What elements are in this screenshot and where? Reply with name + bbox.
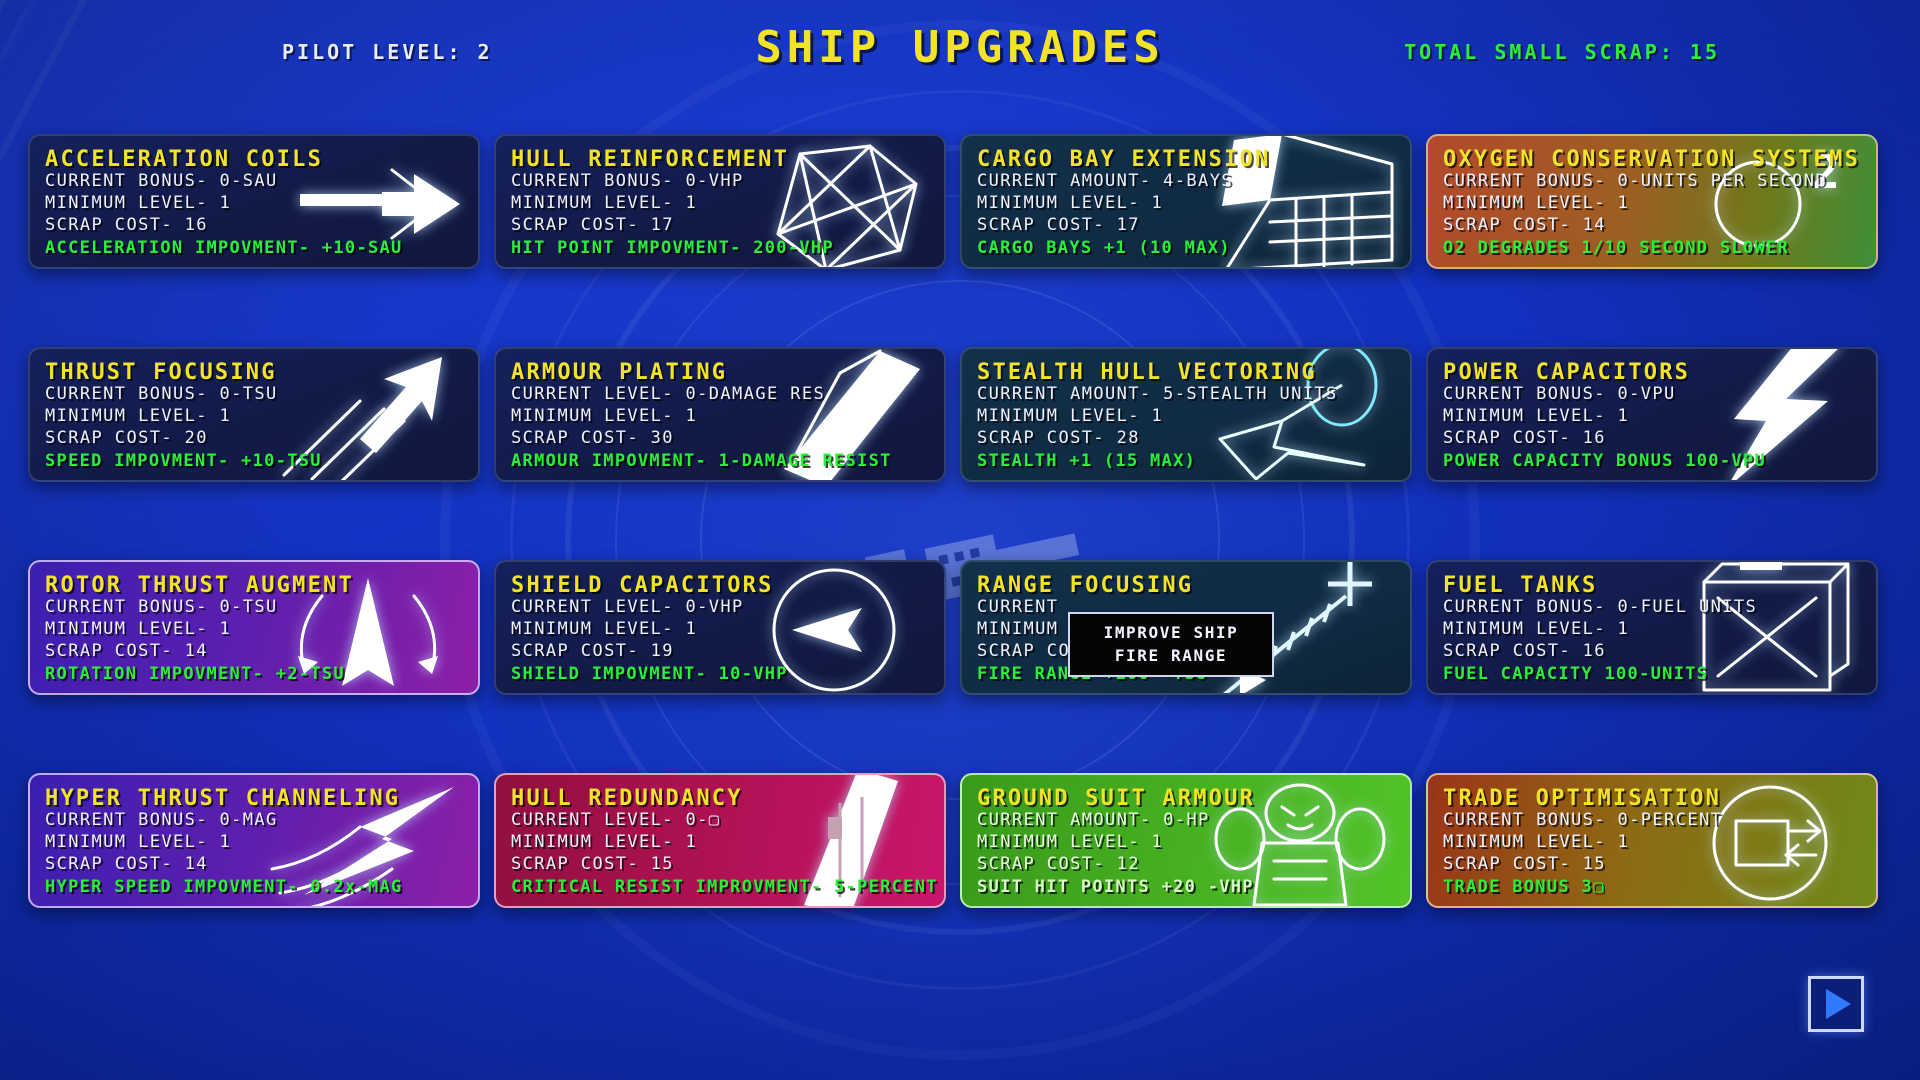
upgrade-scrap-cost: SCRAP COST- 16	[45, 215, 478, 237]
upgrade-scrap-cost: SCRAP COST- 15	[1443, 854, 1876, 876]
upgrade-bonus: STEALTH +1 (15 MAX)	[977, 450, 1410, 472]
upgrade-card-text: ARMOUR PLATINGCURRENT LEVEL- 0-DAMAGE RE…	[511, 362, 944, 472]
upgrade-card[interactable]: FUEL TANKSCURRENT BONUS- 0-FUEL UNITSMIN…	[1426, 560, 1878, 695]
upgrade-scrap-cost: SCRAP COST- 17	[977, 215, 1410, 237]
upgrade-card-text: OXYGEN CONSERVATION SYSTEMSCURRENT BONUS…	[1443, 149, 1876, 259]
upgrade-card-text: FUEL TANKSCURRENT BONUS- 0-FUEL UNITSMIN…	[1443, 575, 1876, 685]
upgrade-minimum-level: MINIMUM LEVEL- 1	[45, 832, 478, 854]
upgrade-minimum-level: MINIMUM LEVEL- 1	[45, 193, 478, 215]
upgrade-current: CURRENT BONUS- 0-UNITS PER SECOND	[1443, 171, 1876, 193]
upgrade-title: HYPER THRUST CHANNELING	[45, 788, 478, 810]
upgrade-scrap-cost: SCRAP COST- 30	[511, 428, 944, 450]
upgrade-card-text: CARGO BAY EXTENSIONCURRENT AMOUNT- 4-BAY…	[977, 149, 1410, 259]
upgrade-current: CURRENT BONUS- 0-VHP	[511, 171, 944, 193]
upgrade-card-text: POWER CAPACITORSCURRENT BONUS- 0-VPUMINI…	[1443, 362, 1876, 472]
upgrade-title: THRUST FOCUSING	[45, 362, 478, 384]
tooltip-line-2: FIRE RANGE	[1076, 644, 1266, 667]
upgrade-minimum-level: MINIMUM LEVEL- 1	[511, 406, 944, 428]
upgrade-card-text: STEALTH HULL VECTORINGCURRENT AMOUNT- 5-…	[977, 362, 1410, 472]
upgrade-minimum-level: MINIMUM LEVEL- 1	[977, 406, 1410, 428]
upgrade-card-text: HULL REINFORCEMENTCURRENT BONUS- 0-VHPMI…	[511, 149, 944, 259]
upgrade-title: GROUND SUIT ARMOUR	[977, 788, 1410, 810]
upgrade-minimum-level: MINIMUM LEVEL- 1	[511, 832, 944, 854]
upgrade-card[interactable]: GROUND SUIT ARMOURCURRENT AMOUNT- 0-HPMI…	[960, 773, 1412, 908]
upgrade-current: CURRENT BONUS- 0-TSU	[45, 384, 478, 406]
next-page-button[interactable]	[1808, 976, 1864, 1032]
upgrade-card[interactable]: TRADE OPTIMISATIONCURRENT BONUS- 0-PERCE…	[1426, 773, 1878, 908]
upgrade-title: HULL REDUNDANCY	[511, 788, 944, 810]
upgrade-minimum-level: MINIMUM LEVEL- 1	[1443, 406, 1876, 428]
upgrade-card[interactable]: POWER CAPACITORSCURRENT BONUS- 0-VPUMINI…	[1426, 347, 1878, 482]
upgrade-title: ARMOUR PLATING	[511, 362, 944, 384]
upgrade-current: CURRENT AMOUNT- 0-HP	[977, 810, 1410, 832]
upgrade-card[interactable]: CARGO BAY EXTENSIONCURRENT AMOUNT- 4-BAY…	[960, 134, 1412, 269]
pilot-level-label: PILOT LEVEL: 2	[282, 40, 493, 64]
tooltip: IMPROVE SHIP FIRE RANGE	[1068, 612, 1274, 677]
upgrade-scrap-cost: SCRAP COST- 19	[511, 641, 944, 663]
upgrade-title: OXYGEN CONSERVATION SYSTEMS	[1443, 149, 1876, 171]
upgrade-minimum-level: MINIMUM LEVEL- 1	[1443, 619, 1876, 641]
tooltip-line-1: IMPROVE SHIP	[1076, 621, 1266, 644]
upgrade-bonus: SPEED IMPOVMENT- +10-TSU	[45, 450, 478, 472]
upgrade-card[interactable]: HULL REDUNDANCYCURRENT LEVEL- 0-▢MINIMUM…	[494, 773, 946, 908]
upgrade-card[interactable]: HYPER THRUST CHANNELINGCURRENT BONUS- 0-…	[28, 773, 480, 908]
upgrade-current: CURRENT LEVEL- 0-VHP	[511, 597, 944, 619]
upgrade-card[interactable]: ROTOR THRUST AUGMENTCURRENT BONUS- 0-TSU…	[28, 560, 480, 695]
upgrade-title: SHIELD CAPACITORS	[511, 575, 944, 597]
play-triangle-icon	[1826, 989, 1851, 1019]
upgrade-scrap-cost: SCRAP COST- 14	[45, 854, 478, 876]
upgrade-minimum-level: MINIMUM LEVEL- 1	[511, 193, 944, 215]
upgrade-card-text: TRADE OPTIMISATIONCURRENT BONUS- 0-PERCE…	[1443, 788, 1876, 898]
upgrade-current: CURRENT BONUS- 0-PERCENT	[1443, 810, 1876, 832]
upgrade-current: CURRENT BONUS- 0-TSU	[45, 597, 478, 619]
upgrade-card[interactable]: HULL REINFORCEMENTCURRENT BONUS- 0-VHPMI…	[494, 134, 946, 269]
scrap-total-label: TOTAL SMALL SCRAP: 15	[1404, 40, 1720, 64]
upgrade-title: HULL REINFORCEMENT	[511, 149, 944, 171]
upgrade-minimum-level: MINIMUM LEVEL- 1	[1443, 193, 1876, 215]
upgrade-title: POWER CAPACITORS	[1443, 362, 1876, 384]
upgrade-scrap-cost: SCRAP COST- 15	[511, 854, 944, 876]
upgrade-bonus: SUIT HIT POINTS +20 -VHP	[977, 876, 1410, 898]
upgrade-bonus: POWER CAPACITY BONUS 100-VPU	[1443, 450, 1876, 472]
page-title: SHIP UPGRADES	[755, 22, 1164, 73]
header-bar: PILOT LEVEL: 2 SHIP UPGRADES TOTAL SMALL…	[0, 0, 1920, 92]
upgrade-card-text: GROUND SUIT ARMOURCURRENT AMOUNT- 0-HPMI…	[977, 788, 1410, 898]
upgrade-current: CURRENT LEVEL- 0-▢	[511, 810, 944, 832]
upgrade-scrap-cost: SCRAP COST- 17	[511, 215, 944, 237]
upgrade-minimum-level: MINIMUM LEVEL- 1	[511, 619, 944, 641]
upgrade-current: CURRENT BONUS- 0-MAG	[45, 810, 478, 832]
upgrade-current: CURRENT BONUS- 0-VPU	[1443, 384, 1876, 406]
upgrade-card-text: THRUST FOCUSINGCURRENT BONUS- 0-TSUMINIM…	[45, 362, 478, 472]
upgrade-bonus: HIT POINT IMPOVMENT- 200-VHP	[511, 237, 944, 259]
upgrade-minimum-level: MINIMUM LEVEL- 1	[977, 193, 1410, 215]
upgrade-scrap-cost: SCRAP COST- 12	[977, 854, 1410, 876]
upgrade-card-text: SHIELD CAPACITORSCURRENT LEVEL- 0-VHPMIN…	[511, 575, 944, 685]
upgrade-current: CURRENT AMOUNT- 5-STEALTH UNITS	[977, 384, 1410, 406]
upgrade-card-text: HULL REDUNDANCYCURRENT LEVEL- 0-▢MINIMUM…	[511, 788, 944, 898]
upgrade-current: CURRENT BONUS- 0-FUEL UNITS	[1443, 597, 1876, 619]
upgrade-bonus: ACCELERATION IMPOVMENT- +10-SAU	[45, 237, 478, 259]
upgrade-grid: ACCELERATION COILSCURRENT BONUS- 0-SAUMI…	[0, 134, 1920, 908]
upgrade-card[interactable]: ARMOUR PLATINGCURRENT LEVEL- 0-DAMAGE RE…	[494, 347, 946, 482]
upgrade-title: ROTOR THRUST AUGMENT	[45, 575, 478, 597]
upgrade-card[interactable]: 2OXYGEN CONSERVATION SYSTEMSCURRENT BONU…	[1426, 134, 1878, 269]
upgrade-minimum-level: MINIMUM LEVEL- 1	[45, 619, 478, 641]
upgrade-title: CARGO BAY EXTENSION	[977, 149, 1410, 171]
upgrade-scrap-cost: SCRAP COST- 16	[1443, 641, 1876, 663]
upgrade-bonus: ARMOUR IMPOVMENT- 1-DAMAGE RESIST	[511, 450, 944, 472]
upgrade-title: FUEL TANKS	[1443, 575, 1876, 597]
upgrade-scrap-cost: SCRAP COST- 28	[977, 428, 1410, 450]
upgrade-bonus: O2 DEGRADES 1/10 SECOND SLOWER	[1443, 237, 1876, 259]
upgrade-card-text: HYPER THRUST CHANNELINGCURRENT BONUS- 0-…	[45, 788, 478, 898]
upgrade-minimum-level: MINIMUM LEVEL- 1	[977, 832, 1410, 854]
upgrade-bonus: TRADE BONUS 3▢	[1443, 876, 1876, 898]
upgrade-scrap-cost: SCRAP COST- 14	[45, 641, 478, 663]
upgrade-bonus: CRITICAL RESIST IMPROVMENT- 5-PERCENT	[511, 876, 944, 898]
upgrade-bonus: FUEL CAPACITY 100-UNITS	[1443, 663, 1876, 685]
upgrade-scrap-cost: SCRAP COST- 14	[1443, 215, 1876, 237]
upgrade-minimum-level: MINIMUM LEVEL- 1	[45, 406, 478, 428]
upgrade-title: TRADE OPTIMISATION	[1443, 788, 1876, 810]
upgrade-card[interactable]: THRUST FOCUSINGCURRENT BONUS- 0-TSUMINIM…	[28, 347, 480, 482]
upgrade-card-text: ROTOR THRUST AUGMENTCURRENT BONUS- 0-TSU…	[45, 575, 478, 685]
upgrade-title: STEALTH HULL VECTORING	[977, 362, 1410, 384]
upgrade-current: CURRENT BONUS- 0-SAU	[45, 171, 478, 193]
upgrade-card[interactable]: SHIELD CAPACITORSCURRENT LEVEL- 0-VHPMIN…	[494, 560, 946, 695]
upgrade-card[interactable]: STEALTH HULL VECTORINGCURRENT AMOUNT- 5-…	[960, 347, 1412, 482]
upgrade-current: CURRENT LEVEL- 0-DAMAGE RES	[511, 384, 944, 406]
upgrade-card[interactable]: ACCELERATION COILSCURRENT BONUS- 0-SAUMI…	[28, 134, 480, 269]
upgrade-bonus: CARGO BAYS +1 (10 MAX)	[977, 237, 1410, 259]
upgrade-title: ACCELERATION COILS	[45, 149, 478, 171]
upgrade-scrap-cost: SCRAP COST- 16	[1443, 428, 1876, 450]
upgrade-card-text: ACCELERATION COILSCURRENT BONUS- 0-SAUMI…	[45, 149, 478, 259]
upgrade-bonus: ROTATION IMPOVMENT- +2-TSU	[45, 663, 478, 685]
upgrade-title: RANGE FOCUSING	[977, 575, 1410, 597]
upgrade-bonus: HYPER SPEED IMPOVMENT- 0.2x-MAG	[45, 876, 478, 898]
upgrade-bonus: SHIELD IMPOVMENT- 10-VHP	[511, 663, 944, 685]
upgrade-scrap-cost: SCRAP COST- 20	[45, 428, 478, 450]
upgrade-minimum-level: MINIMUM LEVEL- 1	[1443, 832, 1876, 854]
upgrade-current: CURRENT AMOUNT- 4-BAYS	[977, 171, 1410, 193]
